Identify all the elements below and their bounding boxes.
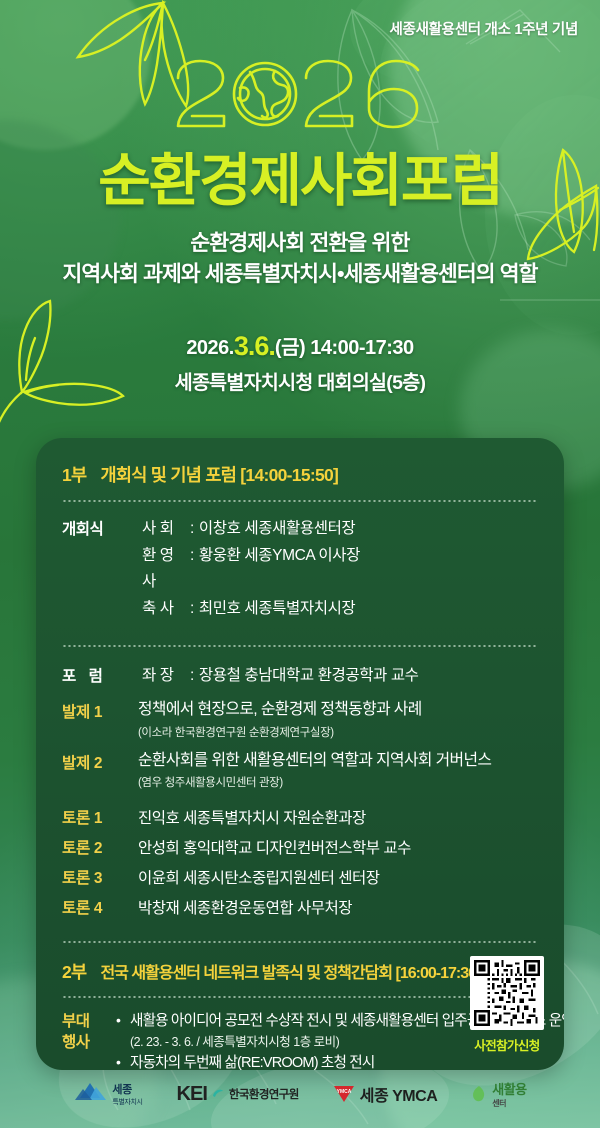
subtitle-line-1: 순환경제사회 전환을 위한 xyxy=(0,228,600,259)
talk-tag: 발제 1 xyxy=(62,700,128,740)
list-item: 토론 1 진익호 세종특별자치시 자원순환과장 xyxy=(62,804,538,834)
event-venue: 세종특별자치시청 대회의실(5층) xyxy=(0,367,600,400)
list-item: 토론 4 박창재 세종환경운동연합 사무처장 xyxy=(62,894,538,924)
talks-list: 발제 1 정책에서 현장으로, 순환경제 정책동향과 사례 (이소라 한국환경연… xyxy=(62,700,538,790)
page-title: 순환경제사회포럼 xyxy=(0,135,600,217)
part1-number: 1부 xyxy=(62,462,86,487)
part1-heading: 1부 개회식 및 기념 포럼 [14:00-15:50] xyxy=(62,462,538,487)
list-item: 토론 3 이윤희 세종시탄소중립지원센터 센터장 xyxy=(62,864,538,894)
row-role: 사 회 xyxy=(142,516,190,543)
date-main: 3.6. xyxy=(234,331,275,361)
row-person: 최민호 세종특별자치시장 xyxy=(199,596,355,623)
event-date-line: 2026.3.6.(금) 14:00-17:30 xyxy=(0,326,600,367)
list-item: 발제 1 정책에서 현장으로, 순환경제 정책동향과 사례 (이소라 한국환경연… xyxy=(62,700,538,740)
list-item: 자동차의 두번째 삶(RE:VROOM) 초청 전시 (3. 6. - 6. 5… xyxy=(116,1054,564,1070)
row-separator: : xyxy=(190,596,194,623)
forum-label: 포 럼 xyxy=(62,663,126,690)
opening-ceremony-rows: 사 회 : 이창호 세종새활용센터장 환 영 사 : 황웅환 세종YMCA 이사… xyxy=(142,516,538,623)
ymca-triangle-icon: YMCA xyxy=(333,1085,355,1103)
talk-speaker: (염우 청주새활용시민센터 관장) xyxy=(138,774,538,790)
side-events-label-line1: 부대 xyxy=(62,1012,106,1033)
header-eyebrow: 세종새활용센터 개소 1주년 기념 xyxy=(390,18,578,39)
table-row: 축 사 : 최민호 세종특별자치시장 xyxy=(142,596,538,623)
side-events-label-line2: 행사 xyxy=(62,1033,106,1054)
qr-code-icon[interactable] xyxy=(470,956,544,1030)
event-datetime-block: 2026.3.6.(금) 14:00-17:30 세종특별자치시청 대회의실(5… xyxy=(0,326,600,400)
logo-label-main: KEI xyxy=(177,1083,207,1106)
table-row: 사 회 : 이창호 세종새활용센터장 xyxy=(142,516,538,543)
logo-label-sub: 센터 xyxy=(492,1098,526,1109)
table-row: 환 영 사 : 황웅환 세종YMCA 이사장 xyxy=(142,543,538,596)
talk-title: 정책에서 현장으로, 순환경제 정책동향과 사례 xyxy=(138,700,538,721)
divider-dotted xyxy=(62,996,538,998)
kei-swoosh-icon xyxy=(212,1088,224,1100)
chair-role: 좌 장 xyxy=(142,663,190,690)
part1-title: 개회식 및 기념 포럼 [14:00-15:50] xyxy=(100,462,338,487)
side-events-section: 부대 행사 새활용 아이디어 공모전 수상작 전시 및 세종새활용센터 입주공방… xyxy=(62,1012,538,1070)
discussion-tag: 토론 2 xyxy=(62,834,128,864)
talk-speaker: (이소라 한국환경연구원 순환경제연구실장) xyxy=(138,724,538,740)
logo-sejong-city: 세종 특별자치시 xyxy=(73,1081,142,1107)
list-item: 발제 2 순환사회를 위한 새활용센터의 역할과 지역사회 거버넌스 (염우 청… xyxy=(62,751,538,791)
hero-subtitle: 순환경제사회 전환을 위한 지역사회 과제와 세종특별자치시•세종새활용센터의 … xyxy=(0,228,600,290)
logo-label-main: 새활용 xyxy=(492,1079,526,1098)
sejong-mountain-icon xyxy=(73,1081,107,1107)
poster-root: 세종새활용센터 개소 1주년 기념 순환경제사회포럼 순환경제사회 전환을 위한 xyxy=(0,0,600,1128)
opening-ceremony-section: 개회식 사 회 : 이창호 세종새활용센터장 환 영 사 : 황웅환 세종YMC… xyxy=(62,516,538,623)
date-suffix: (금) 14:00-17:30 xyxy=(275,337,414,359)
program-panel: 1부 개회식 및 기념 포럼 [14:00-15:50] 개회식 사 회 : 이… xyxy=(36,438,564,1070)
logo-label-main: 세종 YMCA xyxy=(360,1082,438,1106)
logo-label-sub: 특별자치시 xyxy=(112,1097,142,1107)
upcycle-leaf-icon xyxy=(471,1085,487,1103)
date-prefix: 2026. xyxy=(186,337,234,359)
list-item: 토론 2 안성희 홍익대학교 디자인컨버전스학부 교수 xyxy=(62,834,538,864)
divider-dotted xyxy=(62,941,538,943)
row-separator: : xyxy=(190,516,194,543)
talk-tag: 발제 2 xyxy=(62,751,128,791)
divider-dotted xyxy=(62,500,538,502)
discussion-person: 이윤희 세종시탄소중립지원센터 센터장 xyxy=(138,864,538,894)
talk-title: 순환사회를 위한 새활용센터의 역할과 지역사회 거버넌스 xyxy=(138,751,538,772)
logo-kei: KEI 한국환경연구원 xyxy=(177,1083,299,1106)
part2-title: 전국 새활용센터 네트워크 발족식 및 정책간담회 [16:00-17:30] xyxy=(100,959,480,983)
footer-logos: 세종 특별자치시 KEI 한국환경연구원 YMCA 세종 YMCA 새활용 xyxy=(0,1070,600,1118)
part2-heading: 2부 전국 새활용센터 네트워크 발족식 및 정책간담회 [16:00-17:3… xyxy=(62,959,538,984)
discussion-person: 안성희 홍익대학교 디자인컨버전스학부 교수 xyxy=(138,834,538,864)
discussion-list: 토론 1 진익호 세종특별자치시 자원순환과장 토론 2 안성희 홍익대학교 디… xyxy=(62,804,538,923)
forum-section: 포 럼 좌 장 : 장용철 충남대학교 환경공학과 교수 xyxy=(62,663,538,690)
discussion-tag: 토론 4 xyxy=(62,894,128,924)
row-separator: : xyxy=(190,543,194,570)
discussion-tag: 토론 1 xyxy=(62,804,128,834)
discussion-person: 진익호 세종특별자치시 자원순환과장 xyxy=(138,804,538,834)
qr-caption: 사전참가신청 xyxy=(470,1035,544,1054)
row-person: 황웅환 세종YMCA 이사장 xyxy=(199,543,360,570)
discussion-tag: 토론 3 xyxy=(62,864,128,894)
row-role: 축 사 xyxy=(142,596,190,623)
logo-sejong-ymca: YMCA 세종 YMCA xyxy=(333,1082,438,1106)
row-role: 환 영 사 xyxy=(142,543,190,596)
row-person: 이창호 세종새활용센터장 xyxy=(199,516,355,543)
svg-text:YMCA: YMCA xyxy=(336,1089,351,1095)
part2-number: 2부 xyxy=(62,959,86,984)
row-separator: : xyxy=(190,663,194,690)
discussion-person: 박창재 세종환경운동연합 사무처장 xyxy=(138,894,538,924)
registration-qr-block[interactable]: 사전참가신청 xyxy=(470,956,544,1054)
opening-ceremony-label: 개회식 xyxy=(62,516,126,623)
chair-person: 장용철 충남대학교 환경공학과 교수 xyxy=(199,663,419,690)
logo-label-sub: 한국환경연구원 xyxy=(229,1086,299,1102)
side-event-text: 자동차의 두번째 삶(RE:VROOM) 초청 전시 xyxy=(130,1055,374,1070)
logo-label-main: 세종 xyxy=(112,1081,142,1097)
year-2026 xyxy=(0,58,600,130)
side-events-label: 부대 행사 xyxy=(62,1012,106,1070)
subtitle-line-2: 지역사회 과제와 세종특별자치시•세종새활용센터의 역할 xyxy=(0,259,600,290)
forum-chair-row: 좌 장 : 장용철 충남대학교 환경공학과 교수 xyxy=(142,663,538,690)
divider-dotted xyxy=(62,645,538,647)
logo-sejong-upcycle-center: 새활용 센터 xyxy=(471,1079,526,1109)
